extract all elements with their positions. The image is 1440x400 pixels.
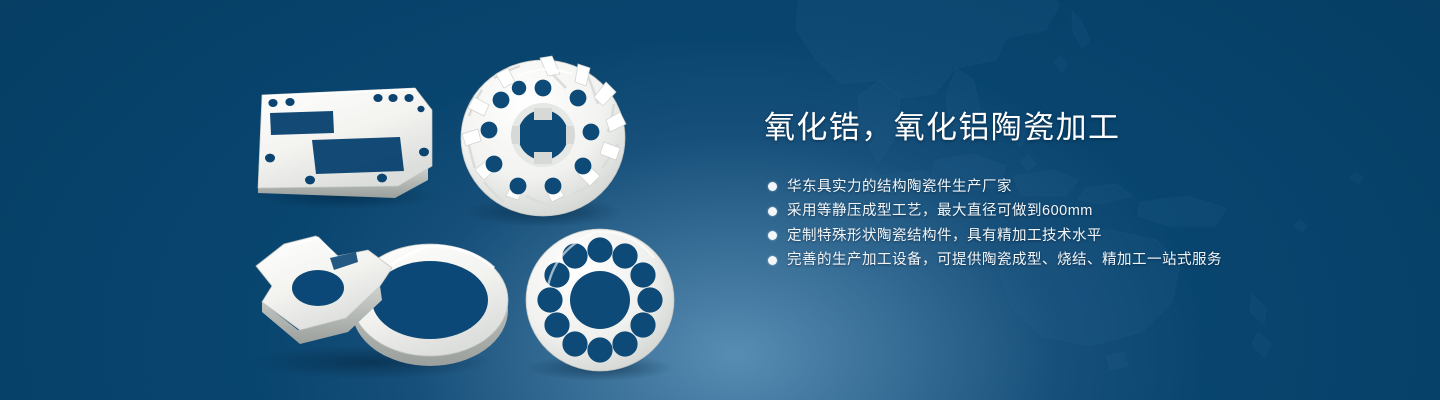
banner-copy: 氧化锆，氧化铝陶瓷加工 华东具实力的结构陶瓷件生产厂家 采用等静压成型工艺，最大… [764, 108, 1404, 273]
page-title: 氧化锆，氧化铝陶瓷加工 [764, 108, 1404, 149]
bullet-dot-icon [768, 256, 777, 265]
list-item: 完善的生产加工设备，可提供陶瓷成型、烧结、精加工一站式服务 [764, 248, 1404, 272]
list-item: 定制特殊形状陶瓷结构件，具有精加工技术水平 [764, 224, 1404, 248]
bullet-dot-icon [768, 207, 777, 216]
feature-text: 定制特殊形状陶瓷结构件，具有精加工技术水平 [787, 224, 1102, 248]
bullet-dot-icon [768, 182, 777, 191]
feature-text: 完善的生产加工设备，可提供陶瓷成型、烧结、精加工一站式服务 [787, 248, 1222, 272]
feature-text: 华东具实力的结构陶瓷件生产厂家 [787, 175, 1012, 199]
bullet-dot-icon [768, 231, 777, 240]
list-item: 采用等静压成型工艺，最大直径可做到600mm [764, 199, 1404, 223]
feature-text: 采用等静压成型工艺，最大直径可做到600mm [787, 199, 1093, 223]
list-item: 华东具实力的结构陶瓷件生产厂家 [764, 175, 1404, 199]
promo-banner: 氧化锆，氧化铝陶瓷加工 华东具实力的结构陶瓷件生产厂家 采用等静压成型工艺，最大… [0, 0, 1440, 400]
feature-list: 华东具实力的结构陶瓷件生产厂家 采用等静压成型工艺，最大直径可做到600mm 定… [764, 175, 1404, 273]
